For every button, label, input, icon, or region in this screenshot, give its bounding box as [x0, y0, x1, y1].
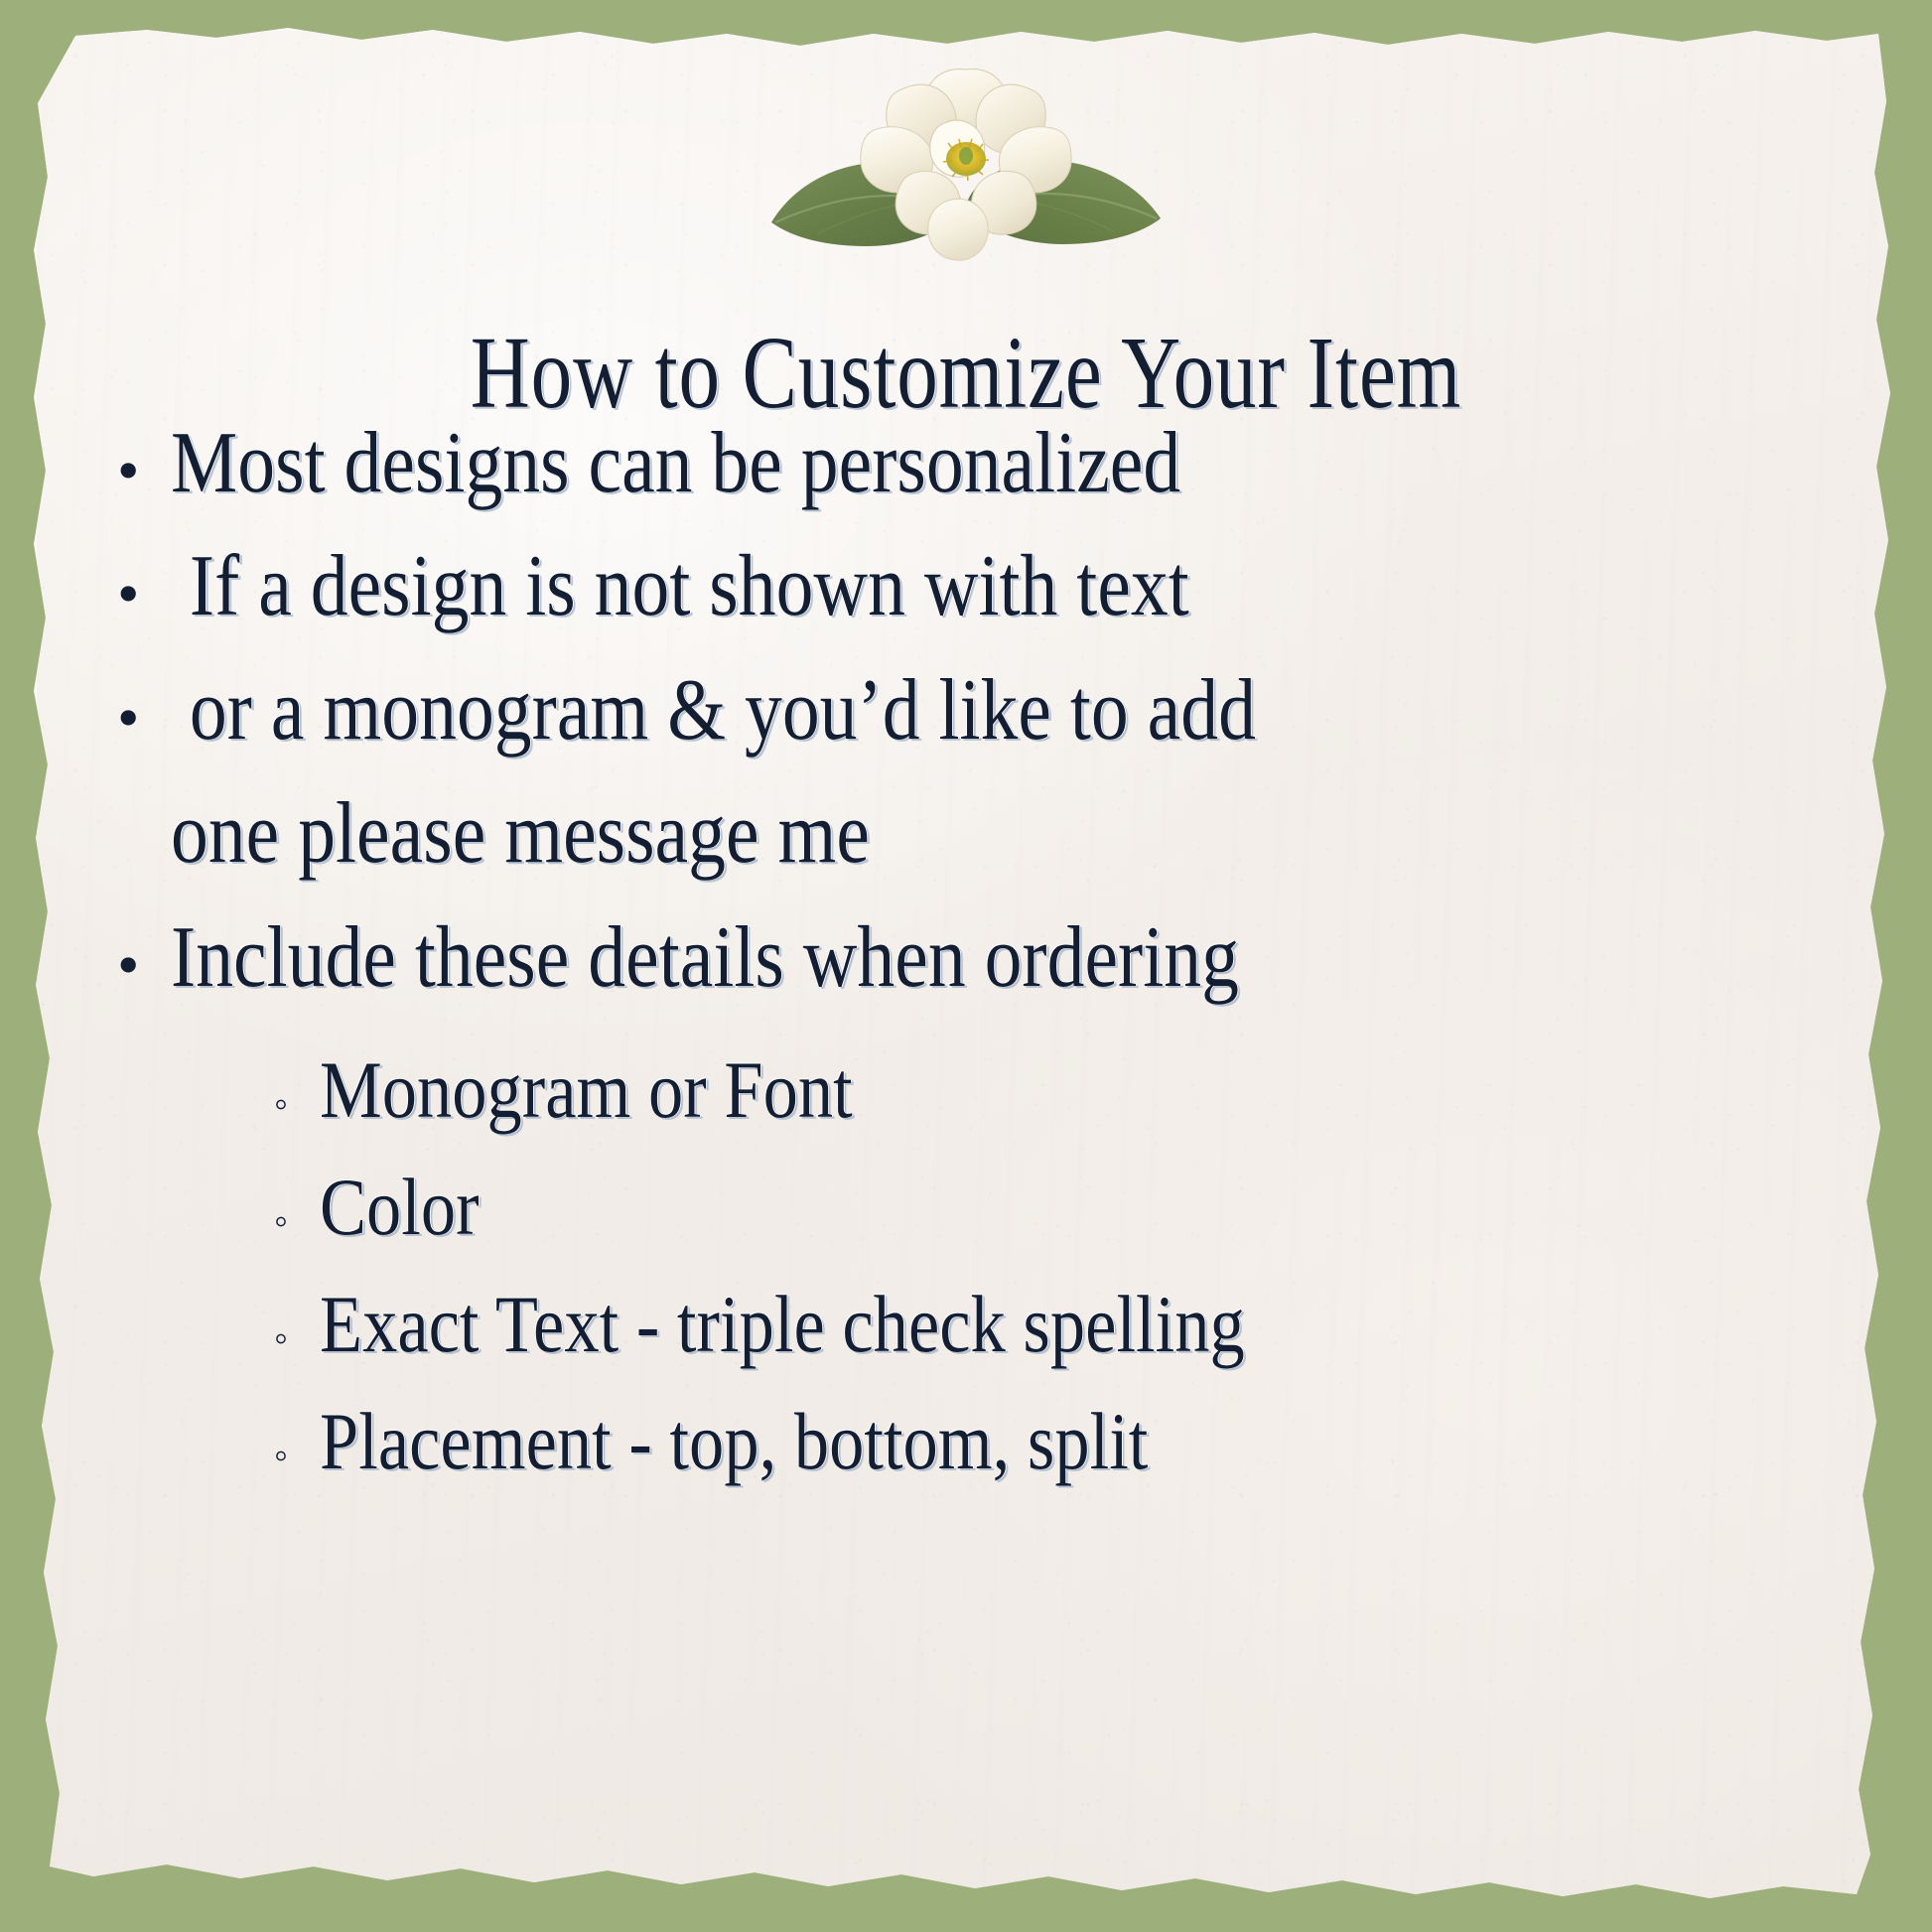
hollow-bullet-icon: ◦ [274, 1084, 320, 1124]
list-item: • or a monogram & you’d like to add [117, 654, 1864, 767]
hollow-bullet-icon: ◦ [274, 1436, 320, 1475]
hollow-bullet-icon: ◦ [274, 1201, 320, 1241]
bullet-dot-icon: • [117, 933, 171, 997]
sublist-item: ◦ Placement - top, bottom, split [274, 1392, 1864, 1491]
list-item: • Include these details when ordering [117, 901, 1864, 1015]
list-item-text: If a design is not shown with text [171, 530, 1189, 643]
list-item-continuation-text: one please message me [171, 777, 870, 891]
poster-content: How to Customize Your Item • Most design… [0, 0, 1932, 1932]
bullet-dot-icon: • [117, 439, 171, 502]
magnolia-flower-icon [758, 52, 1174, 265]
sublist-item: ◦ Exact Text - triple check spelling [274, 1275, 1864, 1374]
sublist-item: ◦ Color [274, 1158, 1864, 1257]
sublist-item: ◦ Monogram or Font [274, 1040, 1864, 1140]
bullet-dot-icon: • [117, 686, 171, 750]
list-item-text: or a monogram & you’d like to add [171, 654, 1256, 767]
sublist-item-text: Placement - top, bottom, split [320, 1392, 1148, 1491]
order-details-sublist: ◦ Monogram or Font ◦ Color ◦ Exact Text … [117, 1040, 1864, 1491]
list-item-text: Include these details when ordering [171, 901, 1239, 1015]
list-item: • If a design is not shown with text [117, 530, 1864, 643]
sublist-item-text: Color [320, 1158, 480, 1257]
instructions-list: • Most designs can be personalized • If … [117, 407, 1864, 1509]
list-item-text: Most designs can be personalized [171, 407, 1180, 520]
list-item-continuation: one please message me [117, 777, 1864, 891]
list-item: • Most designs can be personalized [117, 407, 1864, 520]
sublist-item-text: Monogram or Font [320, 1040, 853, 1140]
hollow-bullet-icon: ◦ [274, 1318, 320, 1358]
bullet-dot-icon: • [117, 562, 171, 625]
sublist-item-text: Exact Text - triple check spelling [320, 1275, 1245, 1374]
poster-canvas: How to Customize Your Item • Most design… [0, 0, 1932, 1932]
